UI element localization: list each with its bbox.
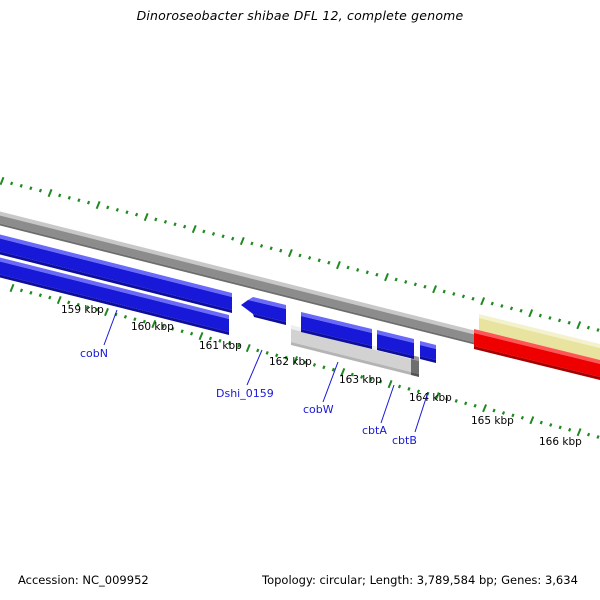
tick-upper-minor	[519, 309, 522, 313]
axis-tick-label: 161 kbp	[199, 340, 242, 352]
gene-label-cbtB[interactable]: cbtB	[392, 434, 417, 447]
tick-lower-minor	[48, 296, 51, 300]
feature-cbtB[interactable]	[420, 341, 436, 363]
tick-upper-major	[48, 189, 53, 197]
tick-upper-minor	[500, 304, 503, 308]
tick-lower-major	[104, 308, 109, 316]
axis-tick-label: 159 kbp	[61, 304, 104, 316]
tick-upper-minor	[29, 186, 32, 190]
tick-upper-minor	[135, 213, 138, 217]
tick-lower-major	[388, 380, 393, 388]
tick-upper-minor	[568, 321, 571, 325]
tick-lower-minor	[29, 291, 32, 295]
genome-map-canvas[interactable]: 159 kbp160 kbp161 kbp162 kbp163 kbp164 k…	[0, 0, 600, 560]
status-bar: Accession: NC_009952 Topology: circular;…	[0, 573, 600, 593]
tick-upper-minor	[395, 278, 398, 282]
tick-lower-minor	[455, 399, 458, 403]
tick-upper-major	[0, 177, 4, 185]
gene-leader-line	[323, 362, 338, 402]
gene-label-cbtA[interactable]: cbtA	[362, 424, 387, 437]
tick-upper-minor	[125, 210, 128, 214]
gene-leader-line	[381, 385, 394, 423]
axis-tick-label: 165 kbp	[471, 415, 514, 427]
tick-upper-minor	[443, 290, 446, 294]
tick-upper-minor	[375, 273, 378, 277]
axis-tick-label: 163 kbp	[339, 374, 382, 386]
tick-lower-major	[529, 416, 534, 424]
tick-lower-minor	[322, 365, 325, 369]
tick-lower-minor	[549, 423, 552, 427]
tick-upper-minor	[318, 258, 321, 262]
tick-upper-minor	[154, 218, 157, 222]
tick-upper-minor	[510, 306, 513, 310]
tick-lower-minor	[20, 289, 23, 293]
gene-label-cobW[interactable]: cobW	[303, 403, 334, 416]
tick-upper-minor	[183, 225, 186, 229]
tick-upper-minor	[164, 220, 167, 224]
tick-upper-major	[336, 261, 341, 269]
tick-upper-minor	[452, 292, 455, 296]
tick-lower-minor	[474, 404, 477, 408]
gene-leader-line	[247, 350, 262, 385]
tick-lower-minor	[407, 387, 410, 391]
tick-upper-minor	[77, 198, 80, 202]
tick-upper-minor	[356, 268, 359, 272]
tick-lower-major	[199, 332, 204, 340]
tick-upper-minor	[327, 261, 330, 265]
tick-upper-minor	[173, 222, 176, 226]
tick-lower-minor	[492, 409, 495, 413]
tick-upper-minor	[587, 326, 590, 330]
tick-upper-major	[288, 249, 293, 257]
tick-upper-minor	[366, 270, 369, 274]
tick-upper-major	[240, 237, 245, 245]
tick-lower-minor	[124, 315, 127, 319]
tick-lower-minor	[587, 433, 590, 437]
tick-upper-minor	[68, 196, 71, 200]
tick-upper-minor	[423, 285, 426, 289]
genome-map-svg[interactable]: 159 kbp160 kbp161 kbp162 kbp163 kbp164 k…	[0, 0, 600, 560]
tick-lower-major	[10, 284, 15, 292]
tick-upper-minor	[106, 206, 109, 210]
feature-darkgray-body	[411, 359, 419, 374]
tick-upper-minor	[279, 249, 282, 253]
gene-label-Dshi_0159[interactable]: Dshi_0159	[216, 387, 274, 400]
tick-lower-major	[246, 344, 251, 352]
genome-stats-text: Topology: circular; Length: 3,789,584 bp…	[262, 573, 578, 587]
tick-upper-minor	[308, 256, 311, 260]
tick-upper-major	[192, 225, 197, 233]
tick-upper-minor	[39, 189, 42, 193]
tick-lower-minor	[521, 416, 524, 420]
tick-upper-minor	[221, 234, 224, 238]
tick-upper-minor	[212, 232, 215, 236]
tick-lower-major	[57, 296, 62, 304]
tick-upper-minor	[58, 194, 61, 198]
genome-viewer-window: Dinoroseobacter shibae DFL 12, complete …	[0, 0, 600, 600]
tick-upper-minor	[491, 302, 494, 306]
tick-lower-minor	[39, 293, 42, 297]
tick-lower-minor	[559, 425, 562, 429]
tick-lower-major	[482, 404, 487, 412]
axis-tick-label: 164 kbp	[409, 392, 452, 404]
tick-lower-minor	[181, 329, 184, 333]
tick-upper-minor	[346, 266, 349, 270]
tick-upper-major	[480, 297, 485, 305]
tick-upper-minor	[462, 294, 465, 298]
tick-lower-minor	[540, 421, 543, 425]
tick-upper-major	[432, 285, 437, 293]
tick-upper-minor	[231, 237, 234, 241]
tick-upper-minor	[404, 280, 407, 284]
tick-upper-minor	[260, 244, 263, 248]
tick-upper-minor	[471, 297, 474, 301]
tick-upper-minor	[20, 184, 23, 188]
tick-upper-minor	[414, 282, 417, 286]
tick-lower-minor	[190, 332, 193, 336]
tick-lower-minor	[398, 385, 401, 389]
tick-upper-major	[576, 321, 581, 329]
tick-upper-minor	[10, 182, 13, 186]
gene-label-cobN[interactable]: cobN	[80, 347, 108, 360]
tick-lower-minor	[256, 349, 259, 353]
tick-upper-major	[528, 309, 533, 317]
tick-lower-minor	[464, 401, 467, 405]
feature-Dshi_0159[interactable]	[241, 297, 286, 325]
tick-lower-minor	[596, 435, 599, 439]
axis-tick-label: 162 kbp	[269, 356, 312, 368]
tick-upper-minor	[298, 254, 301, 258]
tick-lower-minor	[266, 351, 269, 355]
tick-upper-minor	[87, 201, 90, 205]
tick-lower-minor	[313, 363, 316, 367]
axis-tick-label: 166 kbp	[539, 436, 582, 448]
tick-upper-major	[144, 213, 149, 221]
tick-upper-major	[384, 273, 389, 281]
tick-upper-minor	[596, 328, 599, 332]
tick-upper-minor	[116, 208, 119, 212]
tick-lower-minor	[568, 428, 571, 432]
accession-text: Accession: NC_009952	[18, 573, 149, 587]
tick-upper-minor	[202, 230, 205, 234]
tick-upper-minor	[539, 314, 542, 318]
axis-tick-label: 160 kbp	[131, 321, 174, 333]
tick-upper-minor	[558, 318, 561, 322]
tick-upper-minor	[250, 242, 253, 246]
tick-upper-minor	[270, 246, 273, 250]
tick-upper-minor	[548, 316, 551, 320]
tick-upper-major	[96, 201, 101, 209]
